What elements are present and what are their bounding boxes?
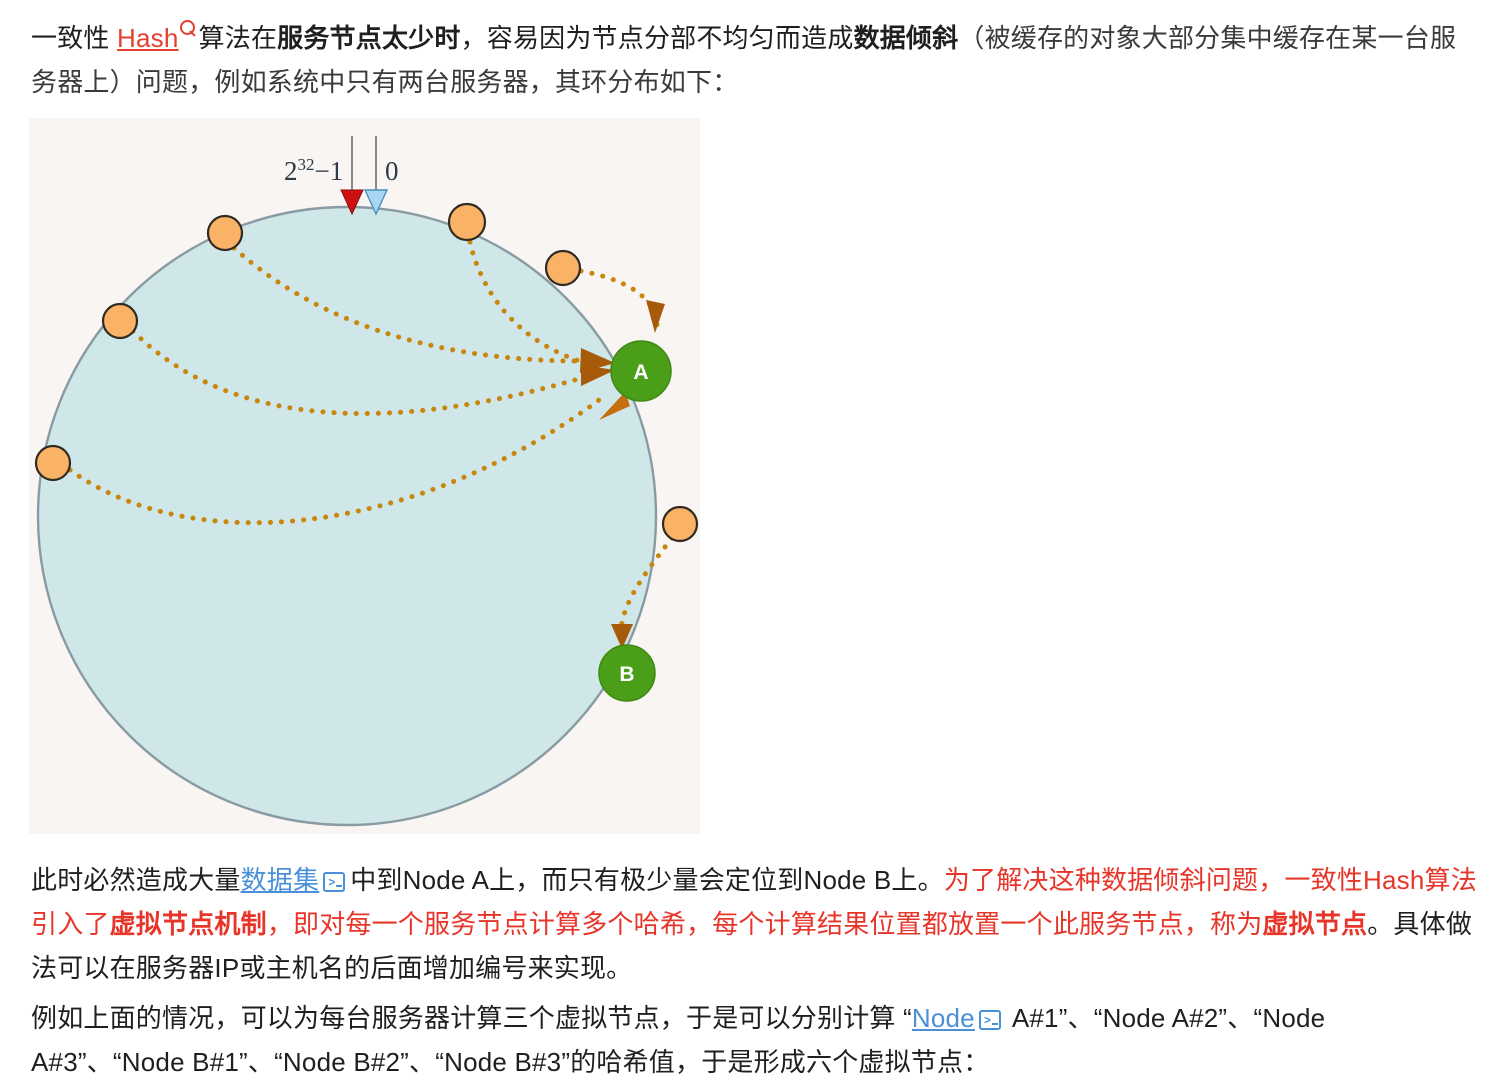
intro-paragraph: 一致性 Hash算法在服务节点太少时，容易因为节点分部不均匀而造成数据倾斜（被缓… [31,16,1477,104]
search-icon[interactable] [180,20,197,37]
terminal-icon-chevron: > [984,1015,991,1027]
skew-red-text-2: ，即对每一个服务节点计算多个哈希，每个计算结果位置都放置一个此服务节点，称为 [267,909,1263,939]
intro-bold-too-few-nodes: 服务节点太少时 [277,23,460,53]
hash-link[interactable]: Hash [117,23,179,53]
intro-text-3: ，容易因为节点分部不均匀而造成 [461,23,854,53]
skew-text-2: 中到Node A上，而只有极少量会定位到Node B上。 [350,865,944,895]
hash-ring-circle [38,207,656,825]
dataset-link[interactable]: 数据集 [241,865,320,895]
virtual-text-1: 例如上面的情况，可以为每台服务器计算三个虚拟节点，于是可以分别计算 “ [31,1003,912,1033]
server-node-a[interactable]: A [611,341,671,401]
intro-bold-data-skew: 数据倾斜 [854,23,959,53]
data-node[interactable] [449,204,485,240]
terminal-icon-underscore [992,1023,998,1025]
virtual-node-paragraph: 例如上面的情况，可以为每台服务器计算三个虚拟节点，于是可以分别计算 “Node>… [31,996,1471,1084]
terminal-icon-underscore [336,885,342,887]
intro-text-2: 算法在 [199,23,278,53]
terminal-icon[interactable]: > [323,872,345,892]
article-page: 一致性 Hash算法在服务节点太少时，容易因为节点分部不均匀而造成数据倾斜（被缓… [0,0,1493,1089]
intro-text-1: 一致性 [31,23,117,53]
endpoint-label-zero: 0 [385,156,399,186]
skew-red-bold-virtual-node: 虚拟节点 [1262,909,1367,939]
data-node[interactable] [663,507,697,541]
server-node-b[interactable]: B [599,645,655,701]
node-link[interactable]: Node [912,1003,975,1033]
data-skew-paragraph: 此时必然造成大量数据集>中到Node A上，而只有极少量会定位到Node B上。… [31,858,1479,990]
consistent-hash-ring-diagram: 232−1 0 [29,118,700,834]
server-node-b-label: B [619,663,634,686]
terminal-icon[interactable]: > [979,1010,1001,1030]
data-node[interactable] [103,304,137,338]
skew-red-bold-mechanism: 虚拟节点机制 [110,909,267,939]
data-node[interactable] [208,216,242,250]
data-node[interactable] [36,446,70,480]
data-node[interactable] [546,251,580,285]
terminal-icon-chevron: > [328,877,335,889]
skew-text-1: 此时必然造成大量 [31,865,241,895]
server-node-a-label: A [633,361,648,384]
endpoint-label-max: 232−1 [284,155,343,186]
